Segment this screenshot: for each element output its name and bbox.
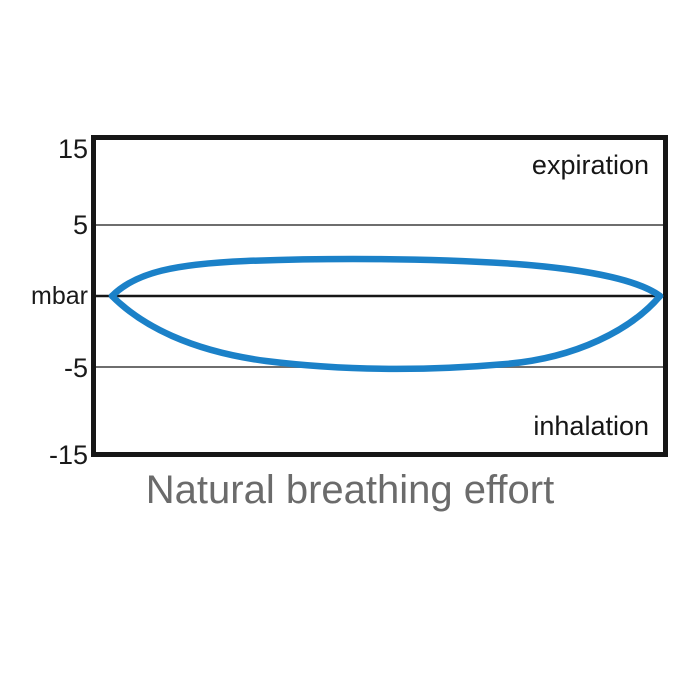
curve-inhalation [112,296,660,369]
plot-area: expiration inhalation [91,135,668,457]
region-label-expiration: expiration [532,152,649,179]
plot-svg [96,140,663,452]
curve-expiration [112,259,660,296]
figure-caption: Natural breathing effort [0,470,700,510]
y-axis-unit-label-mbar: mbar [31,284,88,309]
y-tick-label-minus-15: -15 [49,442,88,469]
y-tick-label-15: 15 [58,136,88,163]
region-label-inhalation: inhalation [533,413,649,440]
y-tick-label-5: 5 [73,212,88,239]
y-tick-label-minus-5: -5 [64,355,88,382]
breathing-effort-figure: 15 5 mbar -5 -15 expiration inhalation N… [0,0,700,700]
